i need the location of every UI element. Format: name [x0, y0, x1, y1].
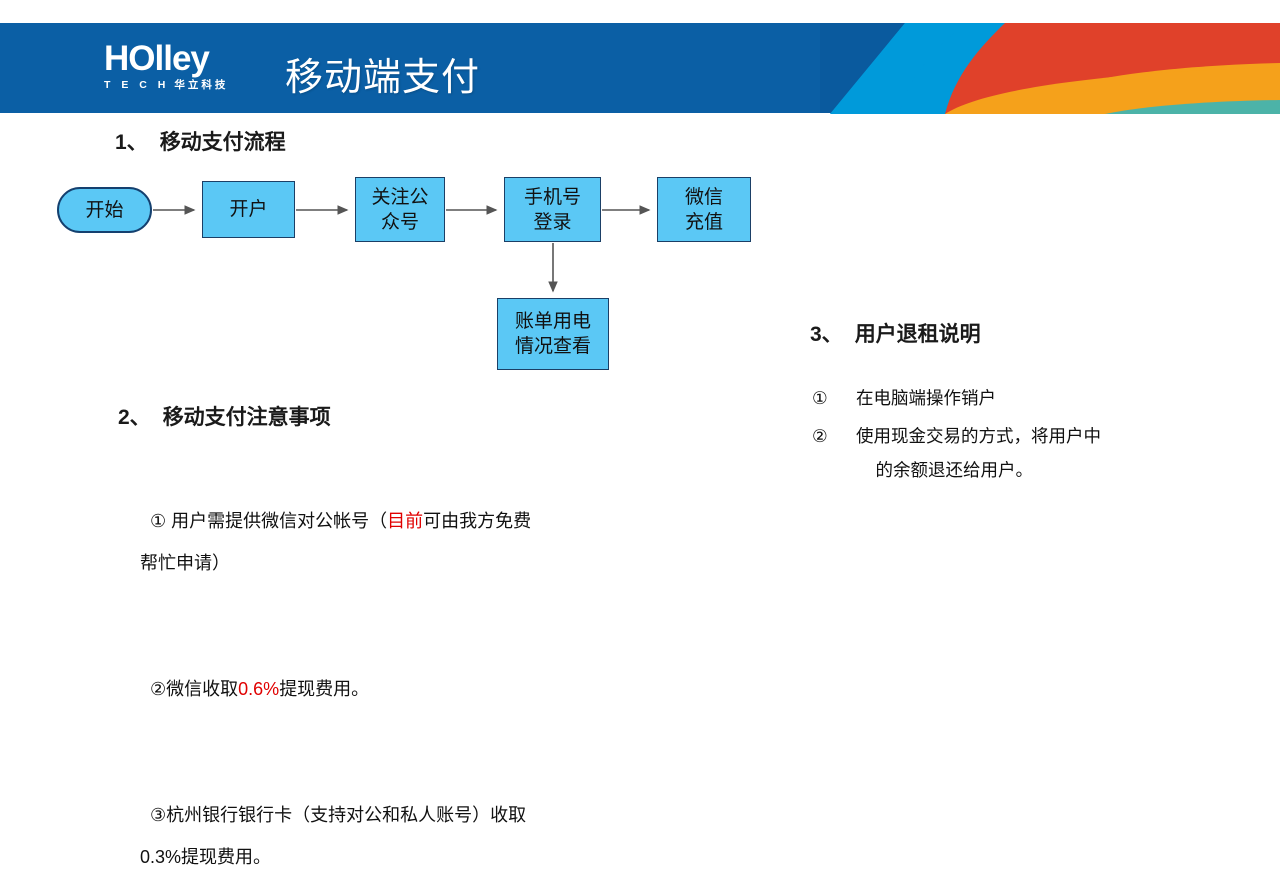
flow-node-bill-usage[interactable]: 账单用电 情况查看 [497, 298, 609, 370]
section-3-title: 用户退租说明 [855, 323, 981, 346]
holley-logo: HOlley T E C H 华立科技 [104, 41, 264, 93]
list-item: ① 在电脑端操作销户 [812, 381, 1232, 415]
flow-node-start[interactable]: 开始 [57, 187, 152, 233]
flow-node-phone-login[interactable]: 手机号 登录 [504, 177, 601, 242]
note-item-2-post: 提现费用。 [279, 679, 369, 699]
section-2-title: 移动支付注意事项 [163, 406, 331, 429]
refund-list: ① 在电脑端操作销户 ② 使用现金交易的方式，将用户中 的余额退还给用户。 [812, 381, 1232, 491]
refund-item-1-text: 在电脑端操作销户 [856, 381, 1232, 415]
header-dark-wedge [820, 23, 1020, 113]
logo-tech-text: T E C H [104, 79, 169, 91]
flow-node-open-account[interactable]: 开户 [202, 181, 295, 238]
logo-subtitle: T E C H 华立科技 [104, 77, 264, 92]
logo-wordmark: HOlley [104, 41, 264, 76]
note-item-2-pre: ②微信收取 [150, 679, 238, 699]
section-3-heading: 3、用户退租说明 [810, 318, 981, 348]
note-item-2-highlight: 0.6% [238, 679, 279, 699]
section-3-number: 3、 [810, 323, 843, 346]
slide-title: 移动端支付 [285, 46, 480, 101]
note-item-1-highlight: 目前 [387, 511, 423, 531]
section-1-title: 移动支付流程 [160, 131, 286, 154]
flow-node-wechat-recharge[interactable]: 微信 充值 [657, 177, 751, 242]
refund-item-2-text: 使用现金交易的方式，将用户中 的余额退还给用户。 [856, 419, 1232, 487]
logo-chinese-text: 华立科技 [174, 77, 228, 92]
refund-item-2-marker: ② [812, 419, 856, 453]
section-1-heading: 1、移动支付流程 [115, 126, 286, 156]
flow-node-follow-official[interactable]: 关注公 众号 [355, 177, 445, 242]
section-2-heading: 2、移动支付注意事项 [118, 401, 331, 431]
section-2-body: ① 用户需提供微信对公帐号（目前可由我方免费 帮忙申请） ②微信收取0.6%提现… [140, 458, 640, 878]
list-item: ② 使用现金交易的方式，将用户中 的余额退还给用户。 [812, 419, 1232, 487]
section-1-number: 1、 [115, 131, 148, 154]
section-2-number: 2、 [118, 406, 151, 429]
refund-item-1-marker: ① [812, 381, 856, 415]
note-item-3: ③杭州银行银行卡（支持对公和私人账号）收取 0.3%提现费用。 [140, 805, 526, 867]
note-item-1-pre: ① 用户需提供微信对公帐号（ [150, 511, 387, 531]
